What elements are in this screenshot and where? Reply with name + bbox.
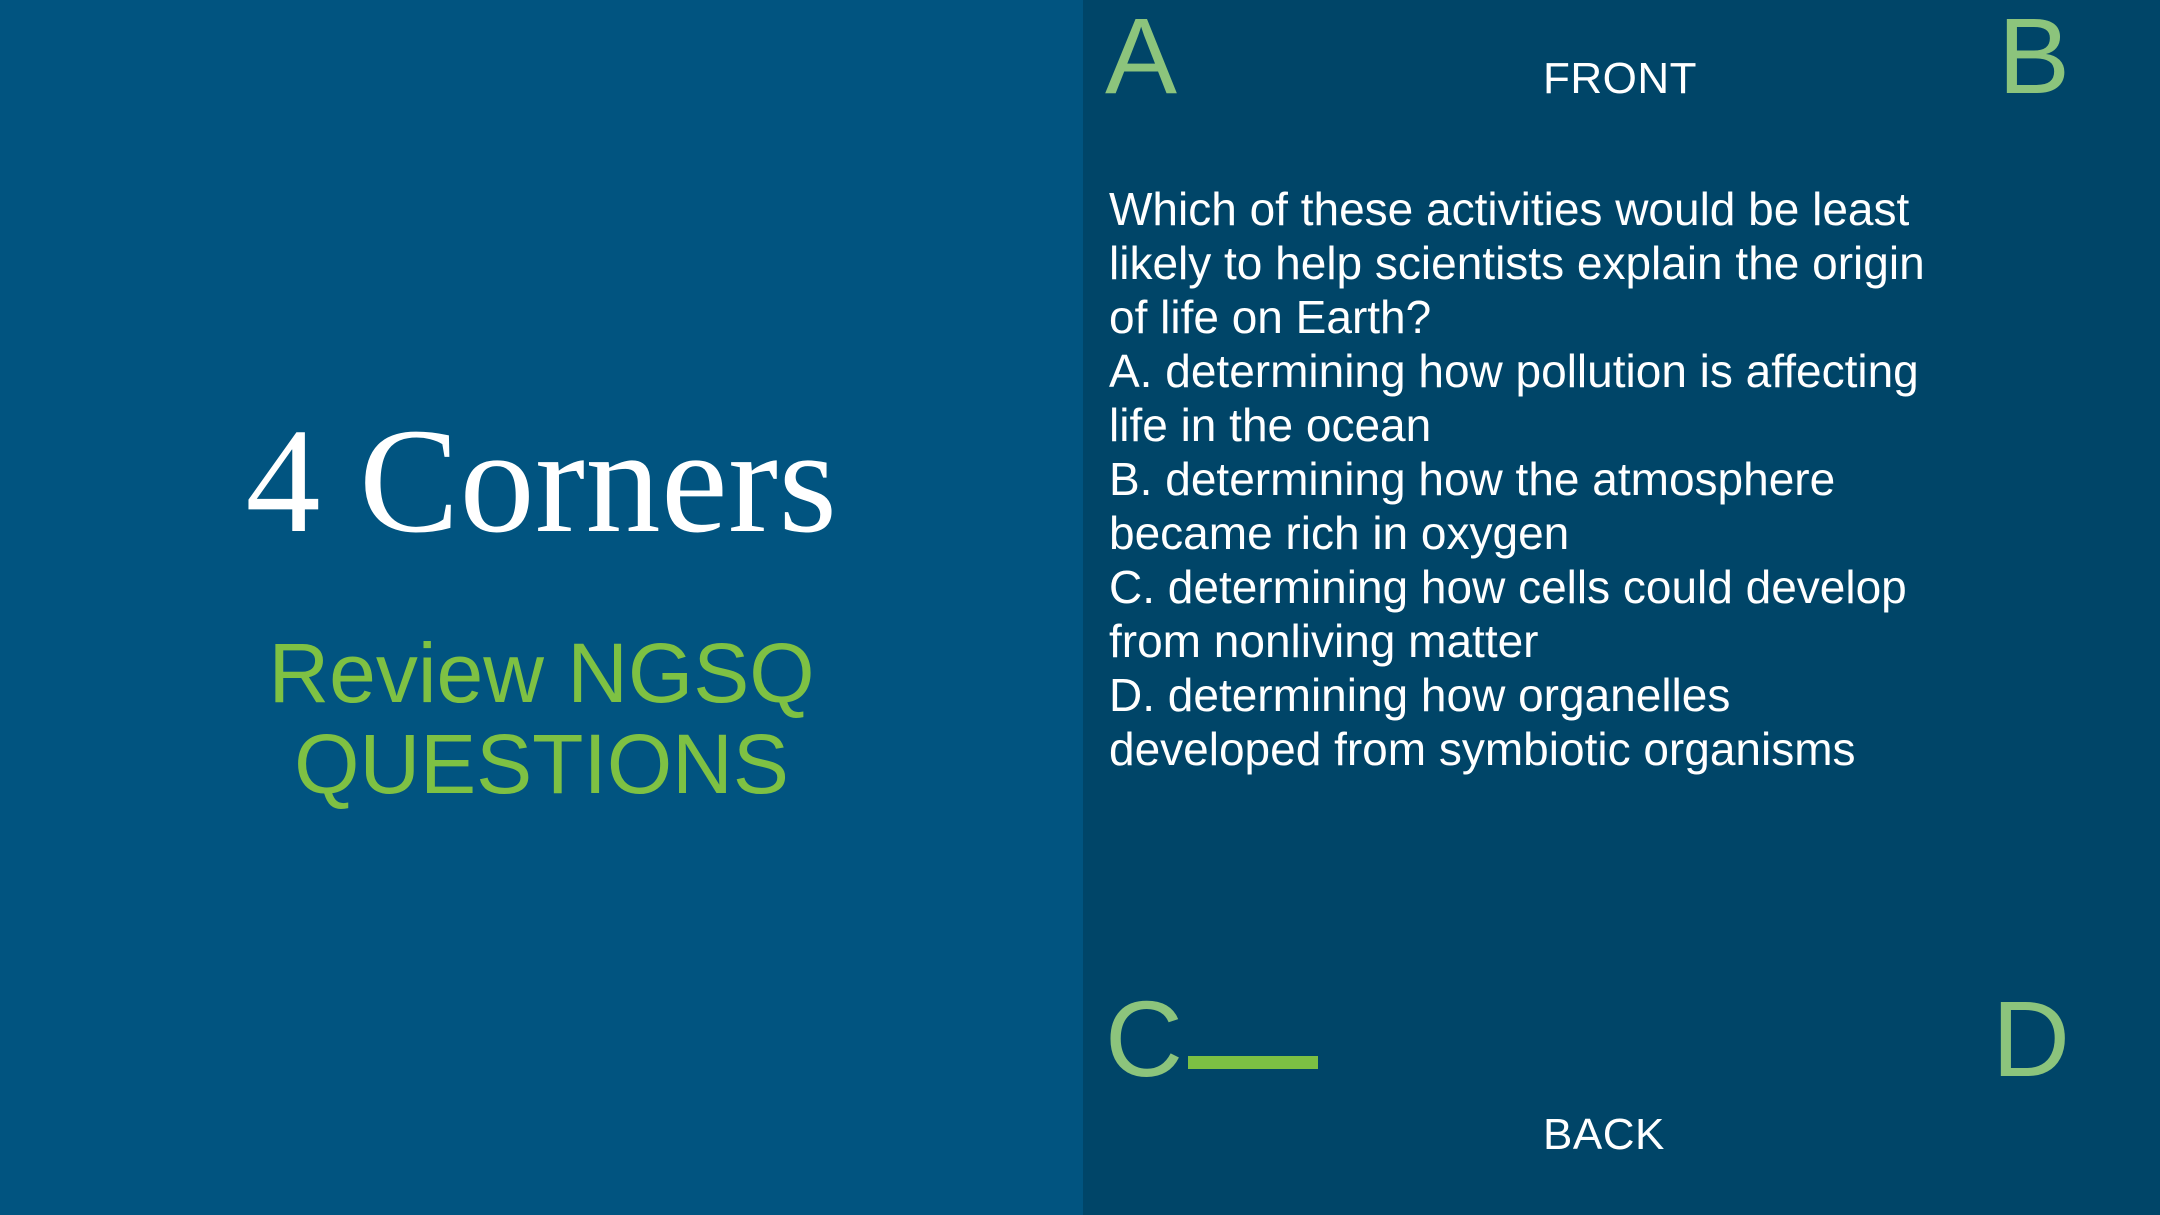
question-line: likely to help scientists explain the or… (1109, 236, 2109, 290)
question-line: A. determining how pollution is affectin… (1109, 344, 2109, 398)
question-line: from nonliving matter (1109, 614, 2109, 668)
left-title-panel: 4 Corners Review NGSQ QUESTIONS (0, 0, 1083, 1215)
question-block: Which of these activities would be least… (1083, 0, 2160, 1215)
question-line: life in the ocean (1109, 398, 2109, 452)
question-line: B. determining how the atmosphere (1109, 452, 2109, 506)
question-line: became rich in oxygen (1109, 506, 2109, 560)
left-title-stack: 4 Corners Review NGSQ QUESTIONS (0, 0, 1083, 1215)
question-line: D. determining how organelles (1109, 668, 2109, 722)
question-text: Which of these activities would be least… (1109, 182, 2109, 776)
flashcard-panel: A B C D FRONT BACK Which of these activi… (1083, 0, 2160, 1215)
question-line: C. determining how cells could develop (1109, 560, 2109, 614)
question-line: Which of these activities would be least (1109, 182, 2109, 236)
deck-title: 4 Corners (246, 406, 838, 556)
slide-canvas: 4 Corners Review NGSQ QUESTIONS A B C D … (0, 0, 2160, 1215)
question-line: of life on Earth? (1109, 290, 2109, 344)
deck-subtitle: Review NGSQ QUESTIONS (162, 628, 922, 809)
question-line: developed from symbiotic organisms (1109, 722, 2109, 776)
